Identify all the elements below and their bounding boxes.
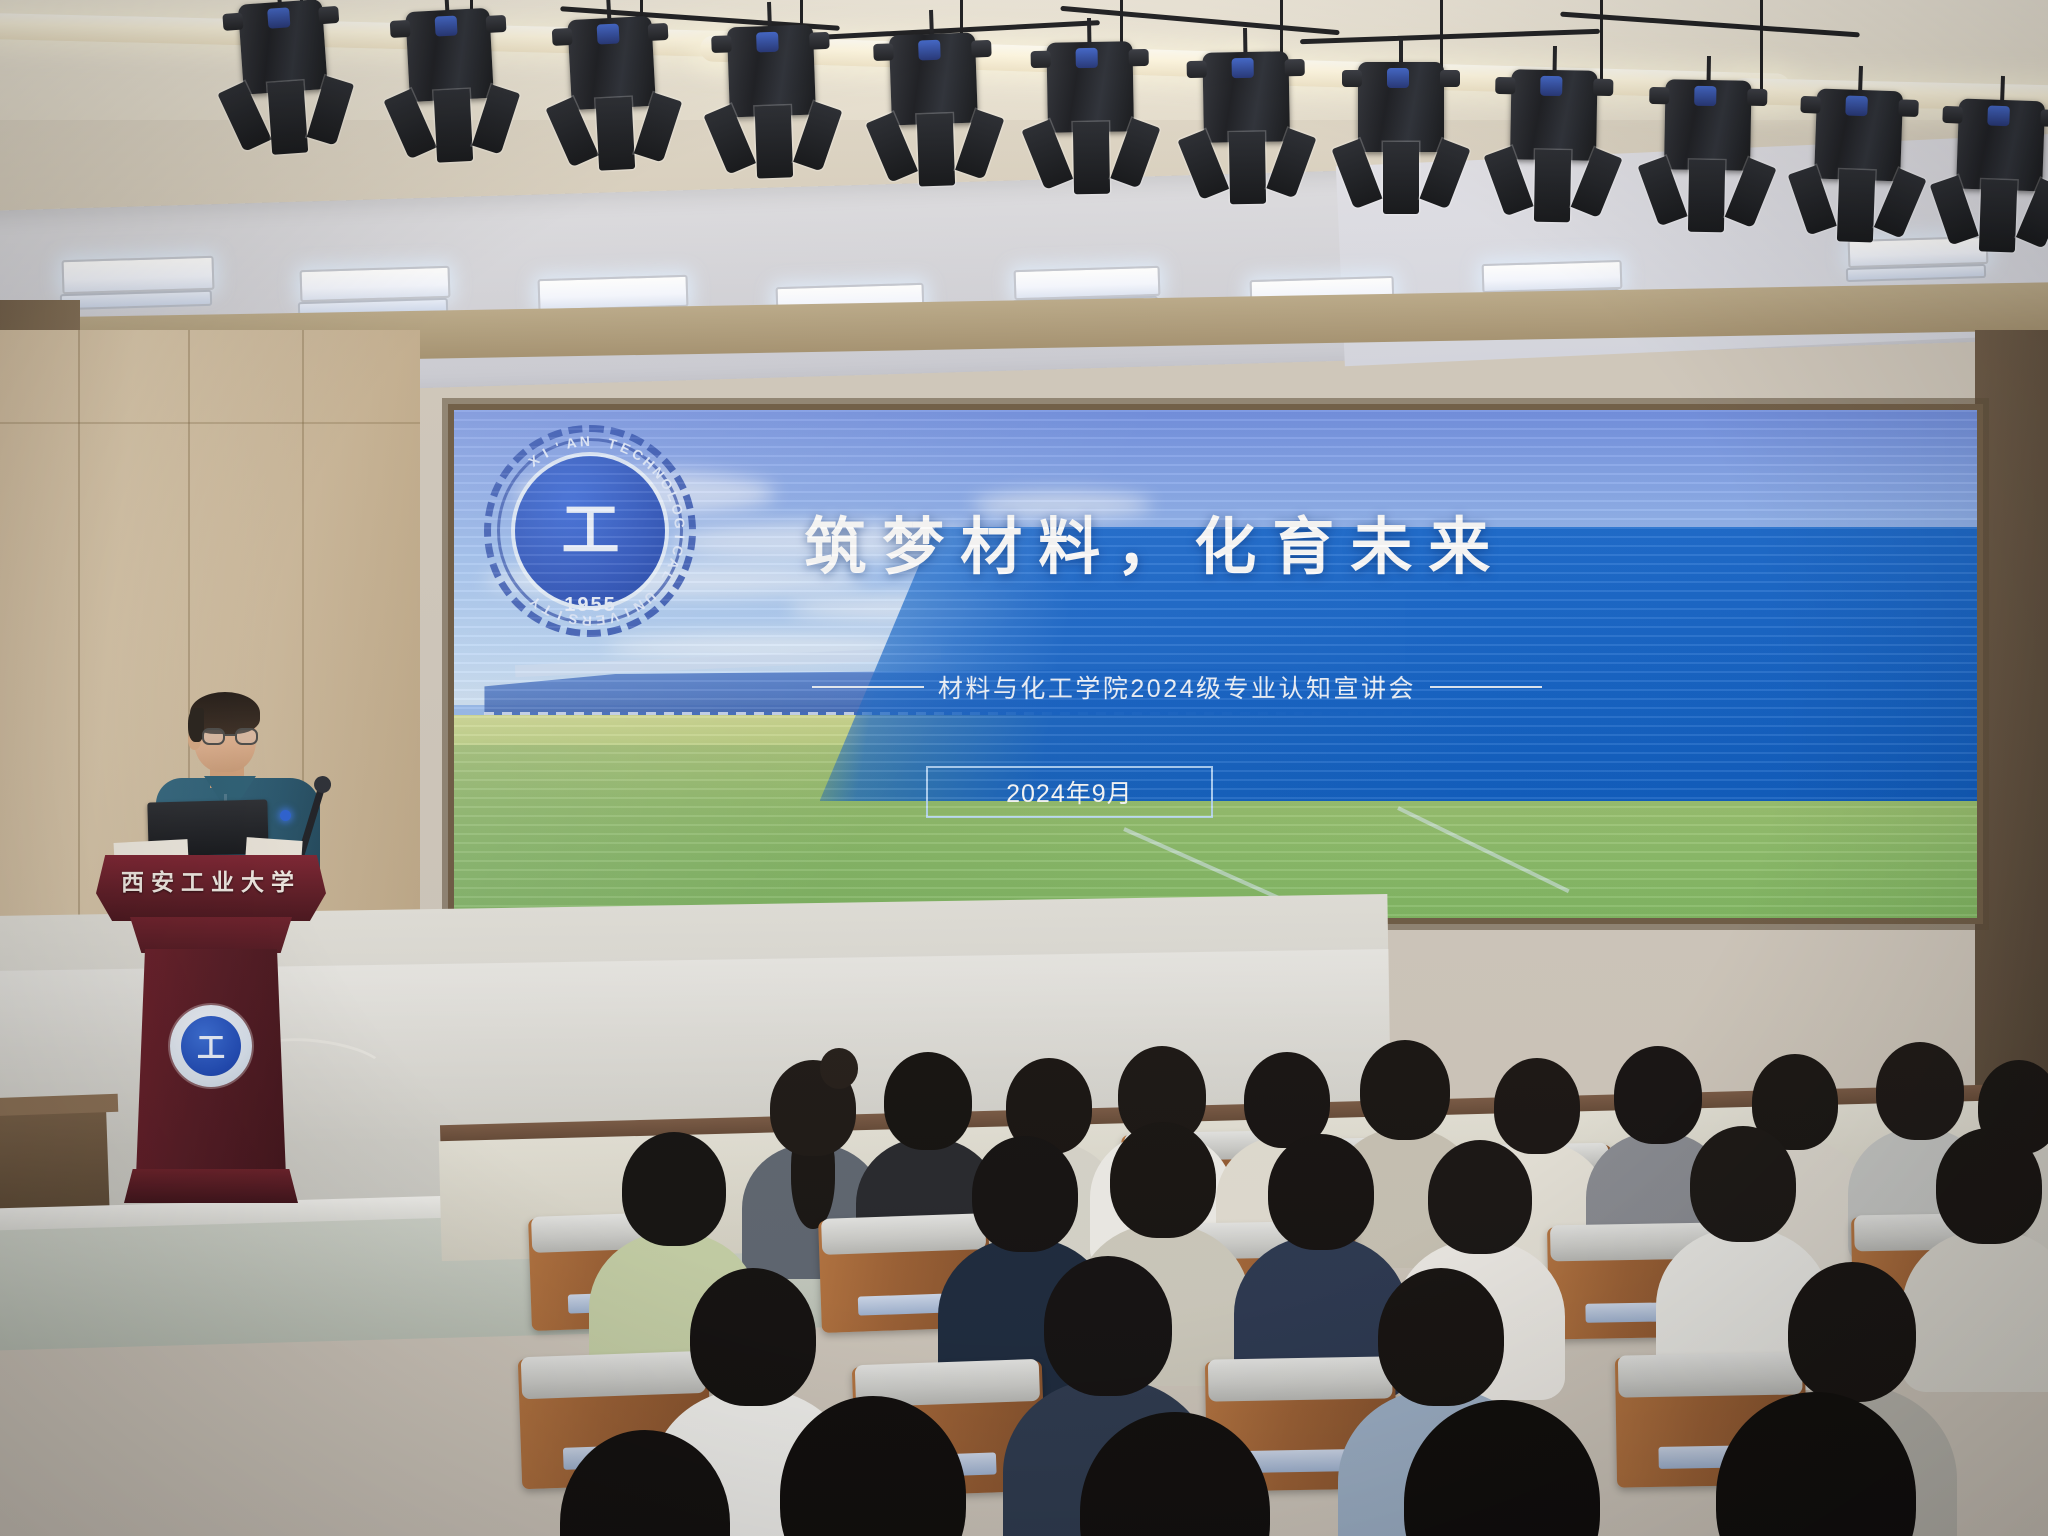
audience-member xyxy=(1876,1042,1964,1140)
rig-hanger-wire xyxy=(1600,0,1603,86)
spotlight-knob xyxy=(318,6,339,24)
podium-seal-glyph: 工 xyxy=(181,1016,241,1076)
spotlight-barndoor xyxy=(1229,132,1266,205)
ceiling-panel-light xyxy=(1482,260,1623,293)
led-screen[interactable]: 筑梦材料，化育未来 材料与化工学院2024级专业认知宣讲会 2024年9月 工 … xyxy=(454,410,1977,918)
spotlight-indicator-icon xyxy=(1387,68,1409,88)
spotlight-knob xyxy=(648,23,669,41)
spotlight-knob xyxy=(552,28,573,46)
audience-member xyxy=(1788,1262,1916,1402)
spotlight-knob xyxy=(2040,109,2048,127)
spotlight-knob xyxy=(1495,77,1515,94)
spotlight-knob xyxy=(1187,61,1207,78)
spotlight-knob xyxy=(1031,51,1051,68)
audience-member xyxy=(1360,1040,1450,1140)
audience-member xyxy=(1268,1134,1374,1250)
audience-member xyxy=(1716,1392,1916,1536)
spotlight-body xyxy=(1046,41,1134,132)
subtitle-rule-right xyxy=(1430,686,1542,688)
spotlight-knob xyxy=(711,35,732,53)
spotlight-knob xyxy=(1747,89,1767,106)
audience-member xyxy=(1378,1268,1504,1406)
spotlight-body xyxy=(1510,69,1598,160)
ceiling-panel-light xyxy=(300,266,451,302)
spotlight-indicator-icon xyxy=(596,24,619,45)
lectern-podium: 西安工业大学 工 xyxy=(96,855,326,1220)
spotlight-body xyxy=(1956,98,2045,191)
spotlight-barndoor xyxy=(267,80,308,154)
spotlight-barndoor xyxy=(433,89,473,163)
slide-title: 筑梦材料，化育未来 xyxy=(804,496,1506,586)
spotlight-barndoor xyxy=(1979,179,2017,252)
spotlight-barndoor xyxy=(595,97,635,171)
audience-member xyxy=(1110,1122,1216,1238)
spotlight-knob xyxy=(1649,87,1669,104)
spotlight-knob xyxy=(1800,96,1821,114)
spotlight-indicator-icon xyxy=(267,7,290,28)
spotlight-body xyxy=(238,0,328,95)
ceiling-panel-light xyxy=(62,256,215,294)
spotlight-knob xyxy=(222,13,243,31)
slide-date-badge: 2024年9月 xyxy=(926,766,1213,818)
slide-subtitle: 材料与化工学院2024级专业认知宣讲会 xyxy=(938,669,1416,705)
spotlight-knob xyxy=(809,32,830,50)
podium-university-name: 西安工业大学 xyxy=(96,863,326,897)
spotlight-body xyxy=(1664,79,1752,170)
spotlight-body xyxy=(889,32,978,125)
spotlight-indicator-icon xyxy=(1076,48,1098,68)
podium-university-seal: 工 xyxy=(170,1005,252,1087)
spotlight-barndoor xyxy=(1688,160,1725,233)
audience-member xyxy=(884,1052,972,1150)
led-screen-frame: 筑梦材料，化育未来 材料与化工学院2024级专业认知宣讲会 2024年9月 工 … xyxy=(448,404,1983,924)
spotlight-barndoor xyxy=(755,105,793,178)
spotlight-indicator-icon xyxy=(1232,58,1254,78)
spotlight-knob xyxy=(1129,49,1149,66)
audience-member xyxy=(1936,1128,2042,1244)
podium-base xyxy=(124,1169,298,1203)
spotlight-body xyxy=(1358,62,1444,152)
spotlight-barndoor xyxy=(917,113,955,186)
audience-member xyxy=(1614,1046,1702,1144)
audience-member xyxy=(1080,1412,1270,1536)
spotlight-body xyxy=(567,16,656,110)
spotlight-knob xyxy=(873,43,894,61)
audience-member xyxy=(1428,1140,1532,1254)
audience-member xyxy=(690,1268,816,1406)
spotlight-indicator-icon xyxy=(1987,106,2010,127)
spotlight-barndoor xyxy=(1383,142,1419,214)
spotlight-barndoor xyxy=(1534,150,1571,223)
spotlight-knob xyxy=(1285,59,1305,76)
audience-member xyxy=(770,1060,856,1156)
spotlight-knob xyxy=(971,40,992,58)
subtitle-rule-left xyxy=(812,686,924,688)
spotlight-barndoor xyxy=(1073,122,1110,195)
spotlight-knob xyxy=(486,15,507,33)
wall-right-dark-panel xyxy=(1975,330,2048,1090)
rig-hanger-wire xyxy=(1760,0,1763,90)
spotlight-knob xyxy=(390,20,411,38)
audience-member xyxy=(1404,1400,1600,1536)
spotlight-body xyxy=(1814,88,1903,181)
slide-subtitle-row: 材料与化工学院2024级专业认知宣讲会 xyxy=(812,669,1542,705)
audience-member xyxy=(1044,1256,1172,1396)
spotlight-barndoor xyxy=(1837,169,1875,242)
ceiling-panel-light xyxy=(1014,266,1161,300)
spotlight-indicator-icon xyxy=(756,32,779,53)
podium-neck xyxy=(130,917,292,953)
spotlight-knob xyxy=(1440,70,1460,87)
speaker-glasses-icon xyxy=(202,728,258,745)
audience-member xyxy=(560,1430,730,1536)
spotlight-body xyxy=(1202,51,1290,142)
spotlight-indicator-icon xyxy=(918,40,941,61)
spotlight-indicator-icon xyxy=(1845,96,1868,117)
spotlight-body xyxy=(727,24,816,117)
spotlight-body xyxy=(405,8,494,102)
emblem-arc-text: XI'AN TECHNOLOGICAL UNIVERSITY xyxy=(484,425,696,637)
spotlight-knob xyxy=(1342,70,1362,87)
audience-member xyxy=(780,1396,966,1536)
university-emblem: 工 1955 XI'AN TECHNOLOGICAL UNIVERSITY xyxy=(484,425,696,637)
lecture-hall-photo: 筑梦材料，化育未来 材料与化工学院2024级专业认知宣讲会 2024年9月 工 … xyxy=(0,0,2048,1536)
spotlight-indicator-icon xyxy=(1694,86,1716,106)
spotlight-indicator-icon xyxy=(1540,76,1562,96)
audience-member xyxy=(972,1136,1078,1252)
spotlight-knob xyxy=(1898,99,1919,117)
audience-member xyxy=(622,1132,726,1246)
spotlight-indicator-icon xyxy=(434,16,457,37)
spotlight-knob xyxy=(1593,79,1613,96)
microphone-led-indicator xyxy=(280,810,291,821)
audience-member xyxy=(1690,1126,1796,1242)
spotlight-knob xyxy=(1942,106,1963,124)
